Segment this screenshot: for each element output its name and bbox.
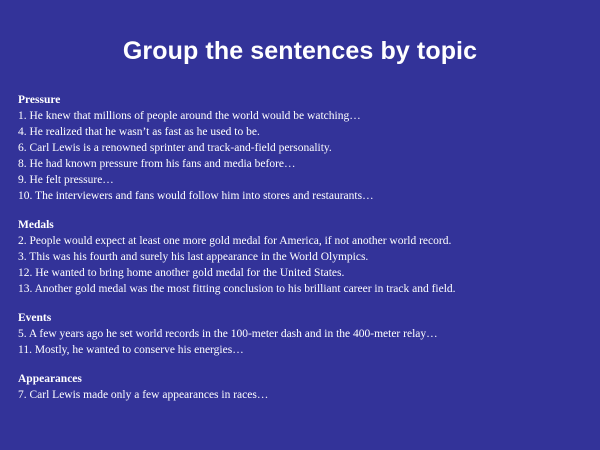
sentence-line: 10. The interviewers and fans would foll… (18, 188, 590, 204)
page-title: Group the sentences by topic (0, 36, 600, 66)
sentence-line: 12. He wanted to bring home another gold… (18, 265, 590, 281)
sentence-line: 2. People would expect at least one more… (18, 233, 590, 249)
sentence-line: 1. He knew that millions of people aroun… (18, 108, 590, 124)
topic-group-appearances: Appearances 7. Carl Lewis made only a fe… (18, 371, 590, 403)
sentence-line: 4. He realized that he wasn’t as fast as… (18, 124, 590, 140)
sentence-line: 11. Mostly, he wanted to conserve his en… (18, 342, 590, 358)
sentence-line: 6. Carl Lewis is a renowned sprinter and… (18, 140, 590, 156)
topic-groups-container: Pressure 1. He knew that millions of peo… (18, 92, 590, 403)
group-heading-pressure: Pressure (18, 92, 590, 108)
topic-group-events: Events 5. A few years ago he set world r… (18, 310, 590, 358)
sentence-line: 9. He felt pressure… (18, 172, 590, 188)
group-heading-events: Events (18, 310, 590, 326)
slide-canvas: Group the sentences by topic Pressure 1.… (0, 0, 600, 450)
topic-group-medals: Medals 2. People would expect at least o… (18, 217, 590, 297)
sentence-line: 5. A few years ago he set world records … (18, 326, 590, 342)
sentence-line: 7. Carl Lewis made only a few appearance… (18, 387, 590, 403)
group-heading-medals: Medals (18, 217, 590, 233)
topic-group-pressure: Pressure 1. He knew that millions of peo… (18, 92, 590, 204)
group-heading-appearances: Appearances (18, 371, 590, 387)
sentence-line: 3. This was his fourth and surely his la… (18, 249, 590, 265)
sentence-line: 8. He had known pressure from his fans a… (18, 156, 590, 172)
sentence-line: 13. Another gold medal was the most fitt… (18, 281, 590, 297)
